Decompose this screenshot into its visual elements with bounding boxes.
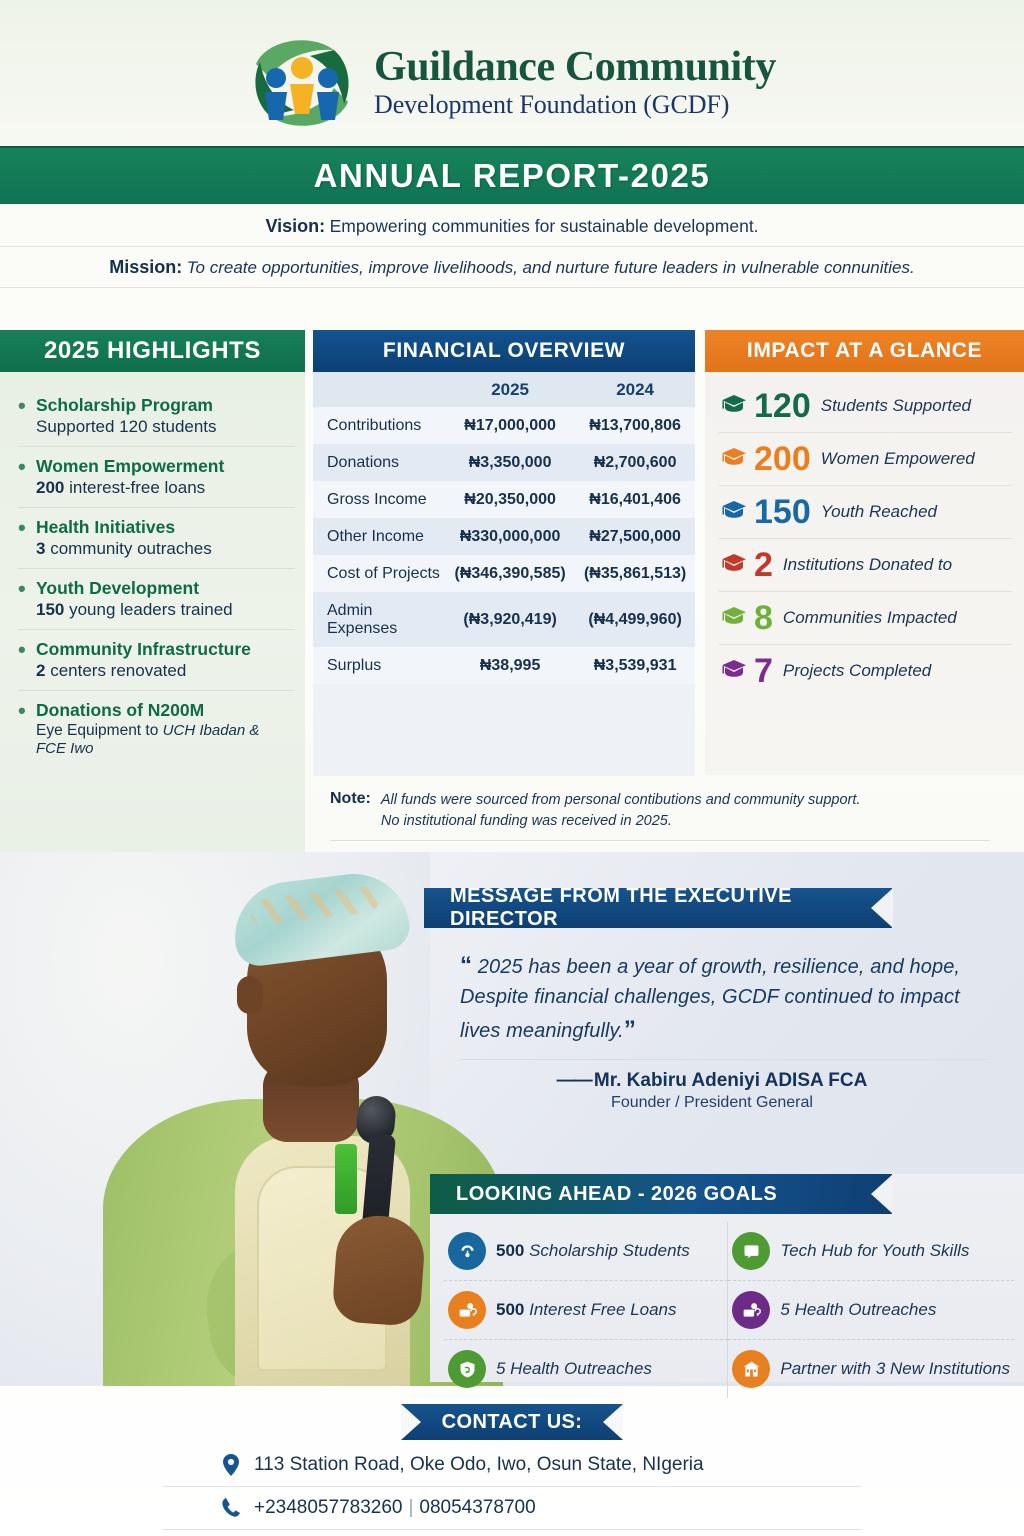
goals-ribbon: LOOKING AHEAD - 2026 GOALS <box>430 1174 892 1214</box>
quote-divider <box>460 1059 990 1060</box>
executive-message-body: “ 2025 has been a year of growth, resili… <box>424 928 1024 1112</box>
executive-quote: “ 2025 has been a year of growth, resili… <box>460 948 1004 1047</box>
financial-row-value: ₦3,350,000 <box>445 444 575 481</box>
impact-item: 120Students Supported <box>719 380 1012 433</box>
highlight-item: Women Empowerment200 interest-free loans <box>18 447 295 508</box>
scholarship-icon <box>448 1232 486 1270</box>
note-text: All funds were sourced from personal con… <box>381 790 861 831</box>
goal-item: 500 Interest Free Loans <box>444 1281 728 1340</box>
graduation-cap-icon <box>721 500 747 525</box>
mission-row: Mission: To create opportunities, improv… <box>0 247 1024 288</box>
financial-row-value: ₦16,401,406 <box>575 481 695 518</box>
highlight-title: Youth Development <box>18 578 291 599</box>
impact-label: Projects Completed <box>783 661 931 681</box>
table-row: Contributions₦17,000,000₦13,700,806 <box>313 407 695 444</box>
financial-table-header-row: 20252024 <box>313 372 695 407</box>
contact-phone-row: +2348057783260|08054378700 <box>162 1487 862 1530</box>
phone-icon <box>220 1496 242 1520</box>
highlight-item: Health Initiatives3 community outraches <box>18 508 295 569</box>
quote-line3: lives meaningfully. <box>460 1020 624 1042</box>
contact-phone-2[interactable]: 08054378700 <box>419 1497 535 1518</box>
brand-header: Guildance Community Development Foundati… <box>0 22 1024 142</box>
financial-row-value: ₦20,350,000 <box>445 481 575 518</box>
highlight-subtitle: 3 community outraches <box>18 539 291 559</box>
table-row: Other Income₦330,000,000₦27,500,000 <box>313 518 695 555</box>
annual-report-infographic: Guildance Community Development Foundati… <box>0 0 1024 1536</box>
financial-row-label: Contributions <box>313 407 445 444</box>
table-row: Surplus₦38,995₦3,539,931 <box>313 647 695 684</box>
location-pin-icon <box>220 1453 242 1477</box>
director-name-text: Mr. Kabiru Adeniyi ADISA FCA <box>594 1070 867 1091</box>
financial-row-value: (₦346,390,585) <box>445 555 575 592</box>
highlight-subtitle: 2 centers renovated <box>18 661 291 681</box>
impact-item: 200Women Empowered <box>719 433 1012 486</box>
financial-col-header: 2025 <box>445 372 575 407</box>
highlight-title: Women Empowerment <box>18 456 291 477</box>
goal-item: 500 Scholarship Students <box>444 1222 728 1281</box>
brand-name: Guildance Community Development Foundati… <box>374 46 776 119</box>
goals-grid: 500 Scholarship StudentsTech Hub for You… <box>430 1214 1024 1398</box>
impact-item: 150Youth Reached <box>719 486 1012 539</box>
table-row: Gross Income₦20,350,000₦16,401,406 <box>313 481 695 518</box>
executive-message-panel: MESSAGE FROM THE EXECUTIVE DIRECTOR “ 20… <box>424 888 1024 1118</box>
director-name: —— Mr. Kabiru Adeniyi ADISA FCA <box>460 1070 964 1092</box>
executive-message-heading: MESSAGE FROM THE EXECUTIVE DIRECTOR <box>424 885 892 931</box>
contact-phones[interactable]: +2348057783260|08054378700 <box>254 1497 536 1519</box>
financial-heading: FINANCIAL OVERVIEW <box>313 330 695 372</box>
contact-heading: CONTACT US: <box>401 1404 623 1440</box>
highlight-title: Donations of N200M <box>18 700 291 721</box>
financial-row-label: Donations <box>313 444 445 481</box>
impact-item: 8Communities Impacted <box>719 592 1012 645</box>
financial-row-value: ₦13,700,806 <box>575 407 695 444</box>
graduation-cap-icon <box>721 553 747 578</box>
goal-item: Partner with 3 New Institutions <box>728 1340 1014 1398</box>
contact-address-row: 113 Station Road, Oke Odo, Iwo, Osun Sta… <box>162 1444 862 1487</box>
financial-row-value: ₦330,000,000 <box>445 518 575 555</box>
financial-note: Note: All funds were sourced from person… <box>330 790 990 841</box>
highlight-title: Scholarship Program <box>18 395 291 416</box>
financial-row-label: Surplus <box>313 647 445 684</box>
vision-label: Vision: <box>265 216 325 236</box>
impact-number: 150 <box>754 495 811 529</box>
financial-row-value: (₦4,499,960) <box>575 592 695 647</box>
financial-row-value: ₦38,995 <box>445 647 575 684</box>
financial-row-label: Admin Expenses <box>313 592 445 647</box>
institution-icon <box>732 1350 770 1388</box>
director-role: Founder / President General <box>460 1094 964 1112</box>
goal-label: 5 Health Outreaches <box>780 1300 936 1320</box>
financial-row-value: (₦35,861,513) <box>575 555 695 592</box>
impact-label: Communities Impacted <box>783 608 957 628</box>
vision-row: Vision: Empowering communities for susta… <box>0 206 1024 247</box>
financial-table-body: Contributions₦17,000,000₦13,700,806Donat… <box>313 407 695 684</box>
table-row: Cost of Projects(₦346,390,585)(₦35,861,5… <box>313 555 695 592</box>
contact-email-row <box>162 1530 862 1536</box>
quote-line2: Despite financial challenges, GCDF conti… <box>460 986 960 1008</box>
impact-label: Youth Reached <box>821 502 937 522</box>
quote-line1: 2025 has been a year of growth, resilien… <box>478 956 960 978</box>
highlight-italic-note: UCH Ibadan & FCE Iwo <box>36 722 259 757</box>
financial-row-label: Cost of Projects <box>313 555 445 592</box>
impact-number: 8 <box>754 601 773 635</box>
table-row: Admin Expenses(₦3,920,419)(₦4,499,960) <box>313 592 695 647</box>
goal-label: 500 Scholarship Students <box>496 1241 690 1261</box>
highlight-item: Community Infrastructure2 centers renova… <box>18 630 295 691</box>
graduation-cap-icon <box>721 447 747 472</box>
highlight-title: Community Infrastructure <box>18 639 291 660</box>
contact-phone-1[interactable]: +2348057783260 <box>254 1497 402 1518</box>
highlights-list: Scholarship ProgramSupported 120 student… <box>0 372 305 767</box>
note-line2: No institutional funding was received in… <box>381 813 672 829</box>
impact-item: 7Projects Completed <box>719 645 1012 697</box>
impact-number: 7 <box>754 654 773 688</box>
highlight-item: Scholarship ProgramSupported 120 student… <box>18 386 295 447</box>
financial-overview-panel: FINANCIAL OVERVIEW 20252024 Contribution… <box>313 330 695 776</box>
note-label: Note: <box>330 790 371 808</box>
table-row: Donations₦3,350,000₦2,700,600 <box>313 444 695 481</box>
open-quote-mark: “ <box>460 952 472 979</box>
brand-name-line1: Guildance Community <box>374 46 776 90</box>
goal-label: 5 Health Outreaches <box>496 1359 652 1379</box>
goal-item: Tech Hub for Youth Skills <box>728 1222 1014 1281</box>
highlight-title: Health Initiatives <box>18 517 291 538</box>
highlight-number: 150 <box>36 600 64 619</box>
financial-row-value: ₦3,539,931 <box>575 647 695 684</box>
impact-label: Students Supported <box>821 396 971 416</box>
mission-text: To create opportunities, improve livelih… <box>187 258 915 277</box>
highlight-number: 200 <box>36 478 64 497</box>
graduation-cap-icon <box>721 659 747 684</box>
graduation-cap-icon <box>721 606 747 631</box>
contact-list: 113 Station Road, Oke Odo, Iwo, Osun Sta… <box>0 1440 1024 1536</box>
close-quote-mark: ” <box>624 1016 636 1043</box>
financial-row-value: ₦2,700,600 <box>575 444 695 481</box>
financial-col-header: 2024 <box>575 372 695 407</box>
financial-row-value: (₦3,920,419) <box>445 592 575 647</box>
impact-label: Women Empowered <box>821 449 975 469</box>
impact-heading: IMPACT AT A GLANCE <box>705 330 1024 372</box>
highlights-panel: 2025 HIGHLIGHTS Scholarship ProgramSuppo… <box>0 330 305 852</box>
phone-separator: | <box>402 1497 419 1518</box>
impact-label: Institutions Donated to <box>783 555 952 575</box>
vision-mission-block: Vision: Empowering communities for susta… <box>0 206 1024 288</box>
executive-message-ribbon: MESSAGE FROM THE EXECUTIVE DIRECTOR <box>424 888 892 928</box>
goals-panel: LOOKING AHEAD - 2026 GOALS 500 Scholarsh… <box>430 1174 1024 1382</box>
note-line1: All funds were sourced from personal con… <box>381 792 861 808</box>
goal-number: 500 <box>496 1300 529 1319</box>
highlight-number: 2 <box>36 661 45 680</box>
health-shield-icon <box>448 1350 486 1388</box>
impact-item: 2Institutions Donated to <box>719 539 1012 592</box>
impact-number: 200 <box>754 442 811 476</box>
impact-panel: IMPACT AT A GLANCE 120Students Supported… <box>705 330 1024 775</box>
page-title: ANNUAL REPORT-2025 <box>314 157 711 195</box>
highlight-subtitle: Eye Equipment to UCH Ibadan & FCE Iwo <box>18 722 291 758</box>
goal-label: Partner with 3 New Institutions <box>780 1359 1010 1379</box>
highlights-heading: 2025 HIGHLIGHTS <box>0 330 305 372</box>
mission-label: Mission: <box>109 257 182 277</box>
graduation-cap-icon <box>721 394 747 419</box>
financial-row-label: Gross Income <box>313 481 445 518</box>
financial-table: 20252024 Contributions₦17,000,000₦13,700… <box>313 372 695 684</box>
vision-text: Empowering communities for sustainable d… <box>330 216 759 236</box>
financial-row-label: Other Income <box>313 518 445 555</box>
impact-number: 120 <box>754 389 811 423</box>
goal-item: 5 Health Outreaches <box>728 1281 1014 1340</box>
brand-name-line2: Development Foundation (GCDF) <box>374 91 776 118</box>
impact-list: 120Students Supported200Women Empowered1… <box>705 372 1024 697</box>
highlight-item: Donations of N200MEye Equipment to UCH I… <box>18 691 295 767</box>
financial-row-value: ₦27,500,000 <box>575 518 695 555</box>
people-circle-logo <box>248 30 356 134</box>
loan-person-icon <box>448 1291 486 1329</box>
financial-row-value: ₦17,000,000 <box>445 407 575 444</box>
highlight-subtitle: 150 young leaders trained <box>18 600 291 620</box>
financial-col-header <box>313 372 445 407</box>
screen-icon <box>732 1232 770 1270</box>
contact-section: CONTACT US: 113 Station Road, Oke Odo, I… <box>0 1404 1024 1536</box>
goal-item: 5 Health Outreaches <box>444 1340 728 1398</box>
goal-label: 500 Interest Free Loans <box>496 1300 677 1320</box>
health-person-icon <box>732 1291 770 1329</box>
report-title-band: ANNUAL REPORT-2025 <box>0 146 1024 204</box>
highlight-item: Youth Development150 young leaders train… <box>18 569 295 630</box>
contact-address[interactable]: 113 Station Road, Oke Odo, Iwo, Osun Sta… <box>254 1454 704 1476</box>
goals-heading: LOOKING AHEAD - 2026 GOALS <box>430 1183 777 1206</box>
goal-number: 500 <box>496 1241 529 1260</box>
goal-label: Tech Hub for Youth Skills <box>780 1241 969 1261</box>
highlight-subtitle: Supported 120 students <box>18 417 291 437</box>
highlight-number: 3 <box>36 539 45 558</box>
impact-number: 2 <box>754 548 773 582</box>
highlight-subtitle: 200 interest-free loans <box>18 478 291 498</box>
